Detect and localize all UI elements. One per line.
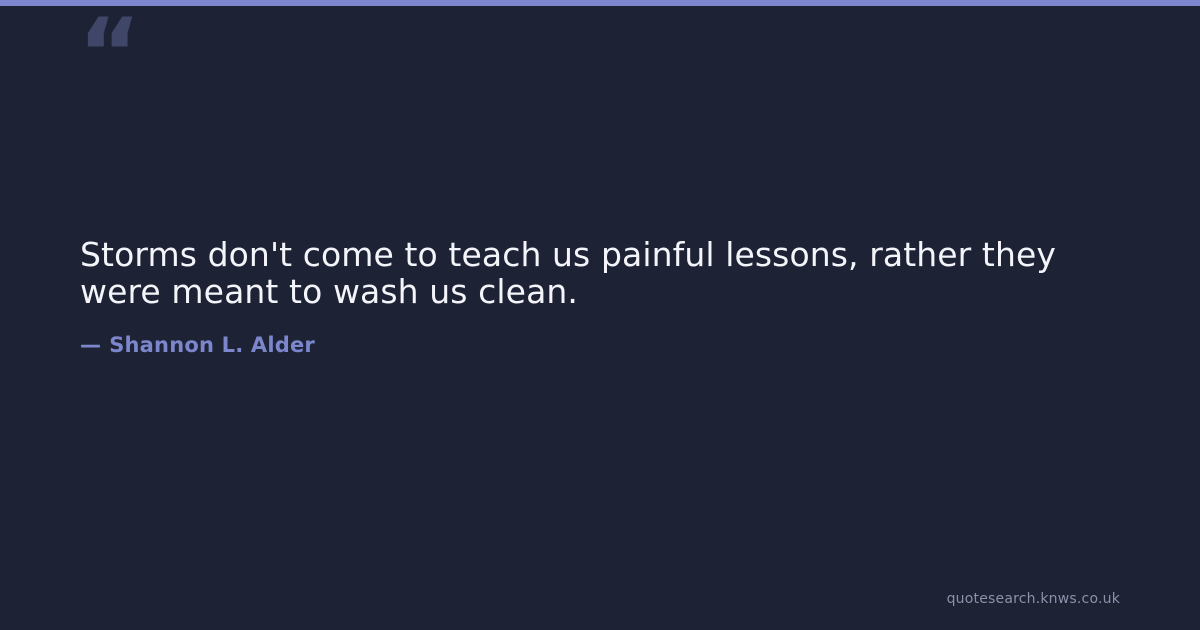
quote-card: “ Storms don't come to teach us painful … (0, 0, 1200, 630)
attribution-dash: — (80, 332, 109, 358)
quote-attribution: —Shannon L. Alder (80, 310, 1140, 358)
quote-text: Storms don't come to teach us painful le… (80, 236, 1120, 310)
opening-quotation-mark-icon: “ (78, 6, 198, 102)
author-name: Shannon L. Alder (109, 333, 315, 357)
quote-content: Storms don't come to teach us painful le… (80, 236, 1140, 358)
site-watermark: quotesearch.knws.co.uk (947, 590, 1120, 608)
